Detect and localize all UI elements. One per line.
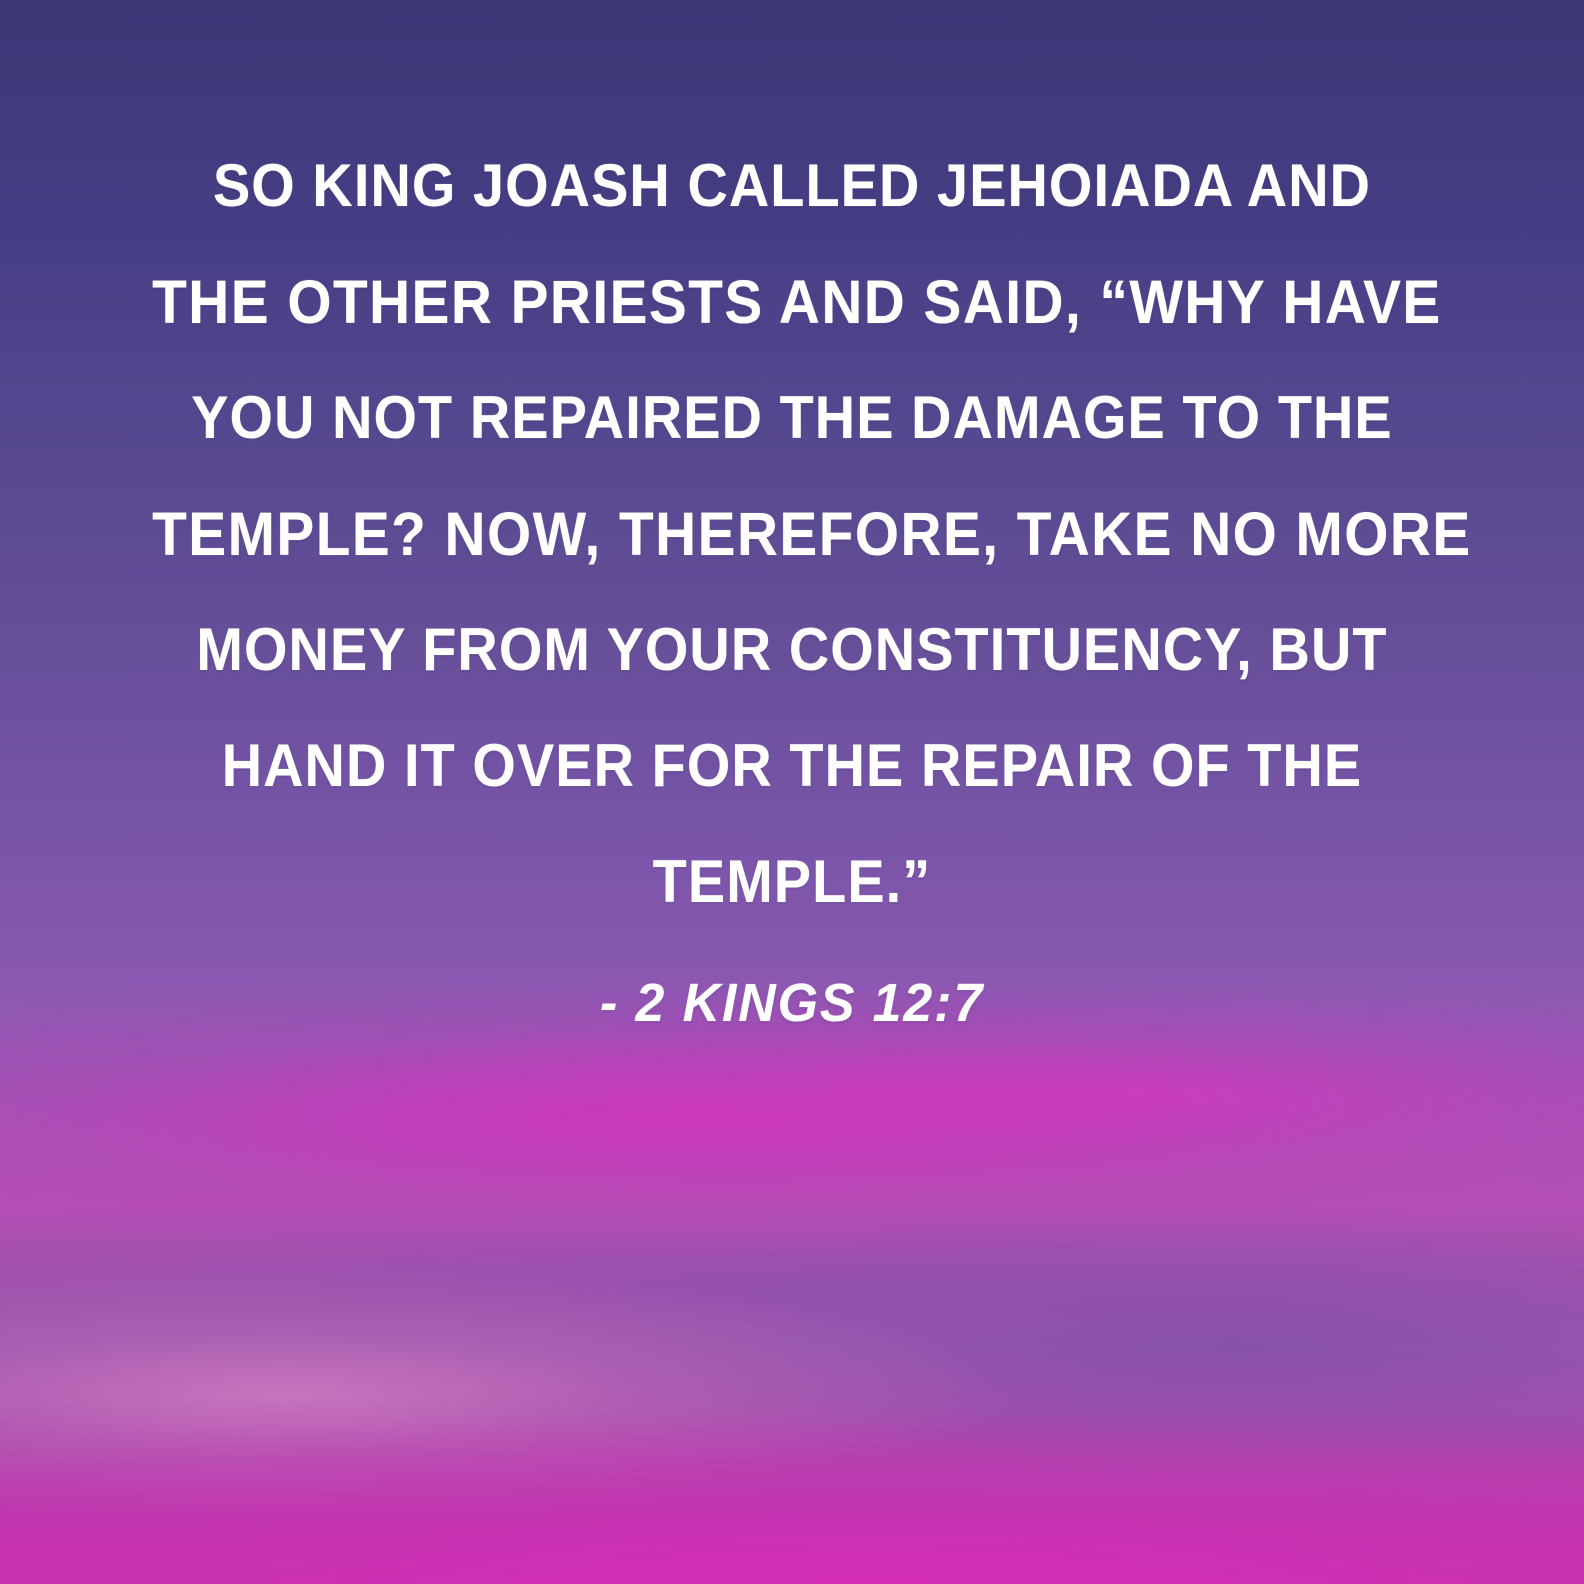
verse-line-2: THE OTHER PRIESTS AND SAID, “WHY HAVE [152,244,1432,360]
verse-line-1: SO KING JOASH CALLED JEHOIADA AND [152,128,1432,244]
verse-line-6: HAND IT OVER FOR THE REPAIR OF THE [152,708,1432,824]
verse-line-4: TEMPLE? NOW, THEREFORE, TAKE NO MORE [152,476,1432,592]
verse-content: SO KING JOASH CALLED JEHOIADA AND THE OT… [0,0,1584,1584]
verse-text-block: SO KING JOASH CALLED JEHOIADA AND THE OT… [104,128,1480,940]
attribution-label: - 2 KINGS 12:7 [600,968,984,1038]
verse-line-7: TEMPLE.” [152,824,1432,940]
verse-line-3: YOU NOT REPAIRED THE DAMAGE TO THE [152,360,1432,476]
verse-image-canvas: SO KING JOASH CALLED JEHOIADA AND THE OT… [0,0,1584,1584]
verse-attribution: - 2 KINGS 12:7 [104,968,1480,1038]
verse-line-5: MONEY FROM YOUR CONSTITUENCY, BUT [152,592,1432,708]
